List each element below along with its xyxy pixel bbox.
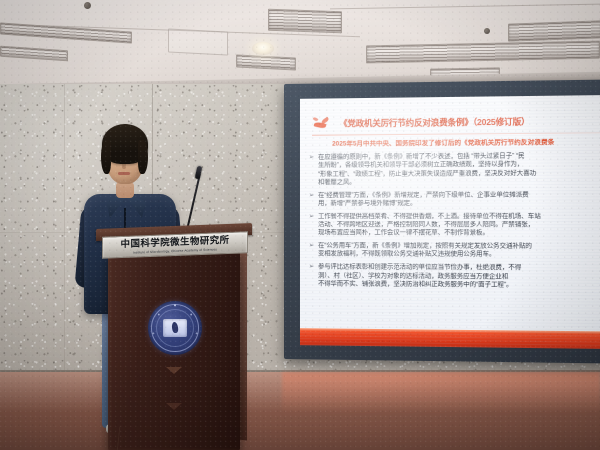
bullet-line: 工作餐不得提供高档菜肴、不得提供香烟，不上酒。接待单位不得在机场、车站: [318, 212, 600, 221]
slide-title: 《党政机关厉行节约反对浪费条例》（2025修订版）: [339, 118, 529, 129]
list-item: ➢ 参与评比达标表彰和创建示范活动的单位应当节俭办事，杜绝浪费，不得 洞）、村（…: [308, 263, 600, 290]
bullet-marker-icon: ➢: [308, 192, 315, 209]
screen-display-area: 《党政机关厉行节约反对浪费条例》（2025修订版） 2025年5月中共中央、国务…: [300, 95, 600, 349]
conference-room-photo: 《党政机关厉行节约反对浪费条例》（2025修订版） 2025年5月中共中央、国务…: [0, 0, 600, 450]
podium-chevron-icon: [166, 367, 182, 374]
bullet-line: 不得华而不实、铺张浪费，坚决防治和纠正政务服务中的“面子工程”。: [318, 280, 600, 290]
bullet-marker-icon: ➢: [308, 154, 315, 187]
slide-header: 《党政机关厉行节约反对浪费条例》（2025修订版）: [312, 114, 600, 133]
ribbon-decoration-icon: [312, 116, 334, 132]
list-item: ➢ 在“公务用车”方面，新《条例》增加规定，按照有关规定发放公务交通补贴的 变相…: [308, 242, 600, 260]
list-item: ➢ 工作餐不得提供高档菜肴、不得提供香烟，不上酒。接待单位不得在机场、车站 活动…: [308, 212, 600, 238]
screen-reflection-on-floor: [282, 372, 600, 422]
bullet-text: 工作餐不得提供高档菜肴、不得提供香烟，不上酒。接待单位不得在机场、车站 活动、不…: [318, 212, 600, 238]
ceiling-access-panel: [168, 28, 228, 55]
air-vent: [0, 46, 68, 62]
bullet-text: 在应遵循的原则中，新《条例》新增了不少表述，包括 “带头过紧日子” “民 生所盼…: [318, 152, 600, 187]
person-hair-side-right: [138, 140, 148, 174]
podium-chevron-icon: [166, 403, 182, 410]
presentation-slide: 《党政机关厉行节约反对浪费条例》（2025修订版） 2025年5月中共中央、国务…: [300, 95, 600, 349]
ceiling-downlight: [252, 42, 274, 55]
bullet-marker-icon: ➢: [308, 213, 315, 238]
bullet-text: 参与评比达标表彰和创建示范活动的单位应当节俭办事，杜绝浪费，不得 洞）、村（社区…: [318, 263, 600, 290]
person-hair-side-left: [101, 140, 111, 174]
podium-cable: [113, 426, 156, 450]
bullet-marker-icon: ➢: [308, 242, 315, 259]
air-vent: [236, 54, 296, 70]
slide-footer-bar: [300, 331, 600, 349]
podium-front-panel: [108, 253, 240, 450]
sprinkler-head: [484, 28, 490, 34]
slide-bullet-list: ➢ 在应遵循的原则中，新《条例》新增了不少表述，包括 “带头过紧日子” “民 生…: [308, 152, 600, 329]
person-mouth: [118, 172, 130, 175]
bullet-text: 在“经费管理”方面，《条例》新增规定，严禁向下级单位、企事业单位摊派费 用，新增…: [318, 191, 600, 209]
slide-title-version: （2025修订版）: [473, 117, 530, 128]
projection-screen: 《党政机关厉行节约反对浪费条例》（2025修订版） 2025年5月中共中央、国务…: [284, 79, 600, 363]
ceiling-seam: [330, 4, 600, 10]
emblem-center-mark: [163, 319, 187, 337]
air-vent: [366, 41, 600, 64]
slide-lead-paragraph: 2025年5月中共中央、国务院印发了修订后的《党政机关厉行节约反对浪费条: [332, 138, 600, 148]
slide-title-main: 《党政机关厉行节约反对浪费条例》: [339, 117, 473, 128]
list-item: ➢ 在应遵循的原则中，新《条例》新增了不少表述，包括 “带头过紧日子” “民 生…: [308, 152, 600, 187]
bullet-line: 变相发放福利，不得既领取公务交通补贴又违规使用公务用车。: [318, 251, 600, 260]
sprinkler-head: [84, 2, 91, 9]
bullet-text: 在“公务用车”方面，新《条例》增加规定，按照有关规定发放公务交通补贴的 变相发放…: [318, 242, 600, 260]
person-neck: [116, 182, 134, 198]
bullet-line: 和奢靡之风。: [318, 178, 600, 188]
lectern-podium: 中国科学院微生物研究所 Institute of Microbiology, C…: [96, 226, 252, 450]
air-vent: [268, 9, 342, 34]
list-item: ➢ 在“经费管理”方面，《条例》新增规定，严禁向下级单位、企事业单位摊派费 用，…: [308, 191, 600, 209]
bullet-marker-icon: ➢: [308, 263, 315, 288]
title-divider: [312, 132, 600, 136]
bullet-line: 现场布置应当简朴，工作会议一律不摆花草、不制作背景板。: [318, 229, 600, 238]
institute-emblem: [148, 301, 202, 355]
air-vent: [508, 20, 600, 41]
bullet-line: 活动、不得跨地区迎送，严格控制陪同人数，不得层层多人陪同。严禁铺张，: [318, 221, 600, 230]
bullet-line: 用，新增“严禁参与境外赌博”规定。: [318, 199, 600, 208]
